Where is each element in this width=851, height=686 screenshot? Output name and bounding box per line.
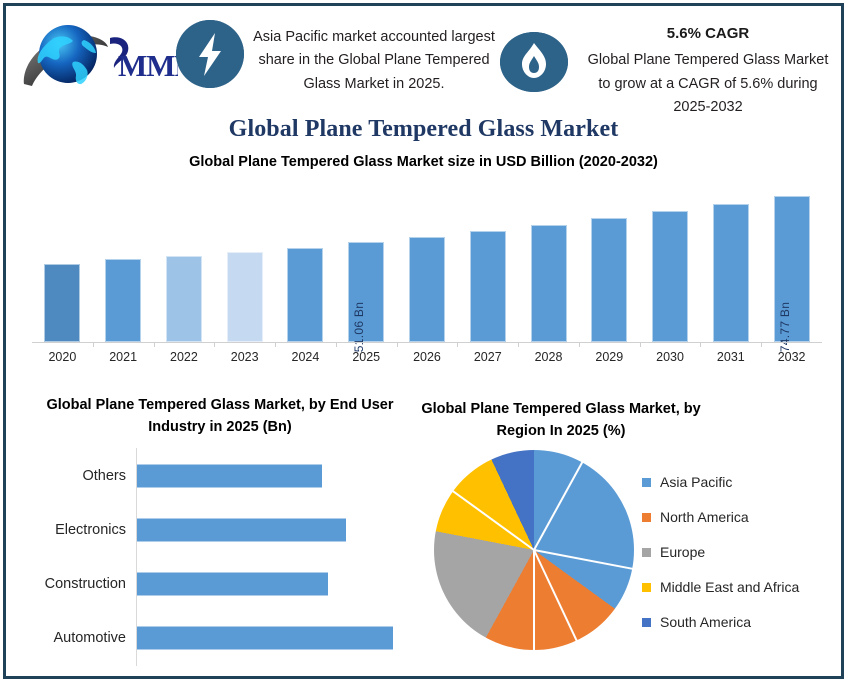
bar-column: 74.77 Bn [761, 182, 822, 342]
hbar-row: Electronics [20, 504, 420, 556]
svg-text:MMR: MMR [118, 48, 178, 83]
legend-swatch [642, 618, 651, 627]
bar-2028 [531, 225, 567, 342]
header: MMR Asia Pacific market accounted larges… [6, 6, 841, 116]
x-axis-label-2026: 2026 [397, 350, 458, 364]
bar-column [700, 182, 761, 342]
legend-swatch [642, 548, 651, 557]
legend-item-middle-east-and-africa[interactable]: Middle East and Africa [642, 579, 842, 595]
legend-label: North America [660, 509, 749, 525]
legend-item-north-america[interactable]: North America [642, 509, 842, 525]
hbar-chart-plot: OthersElectronicsConstructionAutomotive [20, 448, 420, 670]
axis-tick [93, 342, 94, 347]
bar-2022 [166, 256, 202, 342]
pie-slice-separator [534, 549, 634, 570]
lightning-bolt-icon [176, 20, 244, 88]
x-axis-label-2028: 2028 [518, 350, 579, 364]
left-callout-text: Asia Pacific market accounted largest sh… [252, 26, 496, 96]
bar-2025: 51.06 Bn [348, 242, 384, 342]
lightning-bolt-badge [176, 20, 244, 88]
x-axis-label-2023: 2023 [214, 350, 275, 364]
hbar-chart-title: Global Plane Tempered Glass Market, by E… [20, 394, 420, 439]
x-axis-label-2032: 2032 [761, 350, 822, 364]
axis-tick [336, 342, 337, 347]
bar-chart-x-labels: 2020202120222023202420252026202720282029… [32, 350, 822, 372]
x-axis-label-2029: 2029 [579, 350, 640, 364]
bar-column [154, 182, 215, 342]
bar-column: 51.06 Bn [336, 182, 397, 342]
legend-swatch [642, 478, 651, 487]
bar-column [275, 182, 336, 342]
bar-column [32, 182, 93, 342]
pie-chart-graphic [434, 450, 634, 650]
axis-tick [457, 342, 458, 347]
end-user-industry-chart: Global Plane Tempered Glass Market, by E… [20, 394, 420, 678]
bar-column [518, 182, 579, 342]
market-size-bar-chart: Global Plane Tempered Glass Market size … [6, 154, 841, 376]
axis-tick [214, 342, 215, 347]
flame-badge [500, 32, 568, 92]
right-callout-text: Global Plane Tempered Glass Market to gr… [588, 52, 829, 115]
pie-chart-legend: Asia PacificNorth AmericaEuropeMiddle Ea… [642, 474, 842, 649]
bar-value-label: 51.06 Bn [352, 302, 366, 352]
axis-tick [397, 342, 398, 347]
hbar-label-construction: Construction [45, 576, 126, 592]
bar-2023 [227, 252, 263, 342]
legend-item-south-america[interactable]: South America [642, 614, 842, 630]
page-title: Global Plane Tempered Glass Market [6, 116, 841, 143]
x-axis-label-2027: 2027 [457, 350, 518, 364]
bar-2032: 74.77 Bn [774, 196, 810, 342]
pie-chart-title: Global Plane Tempered Glass Market, by R… [416, 398, 706, 443]
legend-label: Europe [660, 544, 705, 560]
pie-slice-separator [452, 490, 535, 551]
bar-2024 [287, 248, 323, 342]
hbar-row: Others [20, 450, 420, 502]
flame-icon [500, 32, 568, 92]
pie-slice-separator [533, 550, 535, 651]
bar-2031 [713, 204, 749, 342]
axis-tick [154, 342, 155, 347]
axis-tick [579, 342, 580, 347]
x-axis-label-2020: 2020 [32, 350, 93, 364]
bar-chart-axis-line [32, 342, 822, 343]
x-axis-label-2021: 2021 [93, 350, 154, 364]
legend-label: Asia Pacific [660, 474, 732, 490]
globe-icon: MMR [18, 14, 178, 102]
hbar-label-automotive: Automotive [53, 630, 126, 646]
axis-tick [640, 342, 641, 347]
bar-2021 [105, 259, 141, 342]
hbar-label-others: Others [82, 468, 126, 484]
hbar-construction [137, 573, 328, 596]
bar-chart-title: Global Plane Tempered Glass Market size … [6, 154, 841, 170]
x-axis-label-2031: 2031 [700, 350, 761, 364]
x-axis-label-2030: 2030 [640, 350, 701, 364]
bar-2020 [44, 264, 80, 342]
hbar-others [137, 465, 322, 488]
pie-slice-separator [533, 550, 578, 642]
mmr-logo: MMR [18, 14, 178, 102]
x-axis-label-2025: 2025 [336, 350, 397, 364]
bar-column [214, 182, 275, 342]
right-callout: 5.6% CAGR Global Plane Tempered Glass Ma… [582, 22, 834, 120]
legend-swatch [642, 583, 651, 592]
infographic-frame: MMR Asia Pacific market accounted larges… [3, 3, 844, 679]
bar-value-label: 74.77 Bn [778, 302, 792, 352]
bar-2029 [591, 218, 627, 342]
legend-label: South America [660, 614, 751, 630]
axis-tick [275, 342, 276, 347]
hbar-row: Construction [20, 558, 420, 610]
axis-tick [700, 342, 701, 347]
bar-column [579, 182, 640, 342]
x-axis-label-2022: 2022 [154, 350, 215, 364]
hbar-label-electronics: Electronics [55, 522, 126, 538]
bar-2030 [652, 211, 688, 342]
hbar-electronics [137, 519, 346, 542]
bar-column [457, 182, 518, 342]
x-axis-label-2024: 2024 [275, 350, 336, 364]
legend-item-europe[interactable]: Europe [642, 544, 842, 560]
bar-2026 [409, 237, 445, 342]
bar-column [640, 182, 701, 342]
axis-tick [761, 342, 762, 347]
pie-slice-separator [533, 461, 583, 550]
axis-tick [518, 342, 519, 347]
legend-swatch [642, 513, 651, 522]
cagr-value: 5.6% CAGR [582, 22, 834, 46]
hbar-row: Automotive [20, 612, 420, 664]
legend-item-asia-pacific[interactable]: Asia Pacific [642, 474, 842, 490]
hbar-automotive [137, 627, 393, 650]
region-pie-chart: Global Plane Tempered Glass Market, by R… [416, 398, 841, 680]
bar-2027 [470, 231, 506, 342]
bar-column [397, 182, 458, 342]
legend-label: Middle East and Africa [660, 579, 799, 595]
bar-column [93, 182, 154, 342]
bar-chart-plot: 51.06 Bn74.77 Bn [32, 182, 822, 342]
